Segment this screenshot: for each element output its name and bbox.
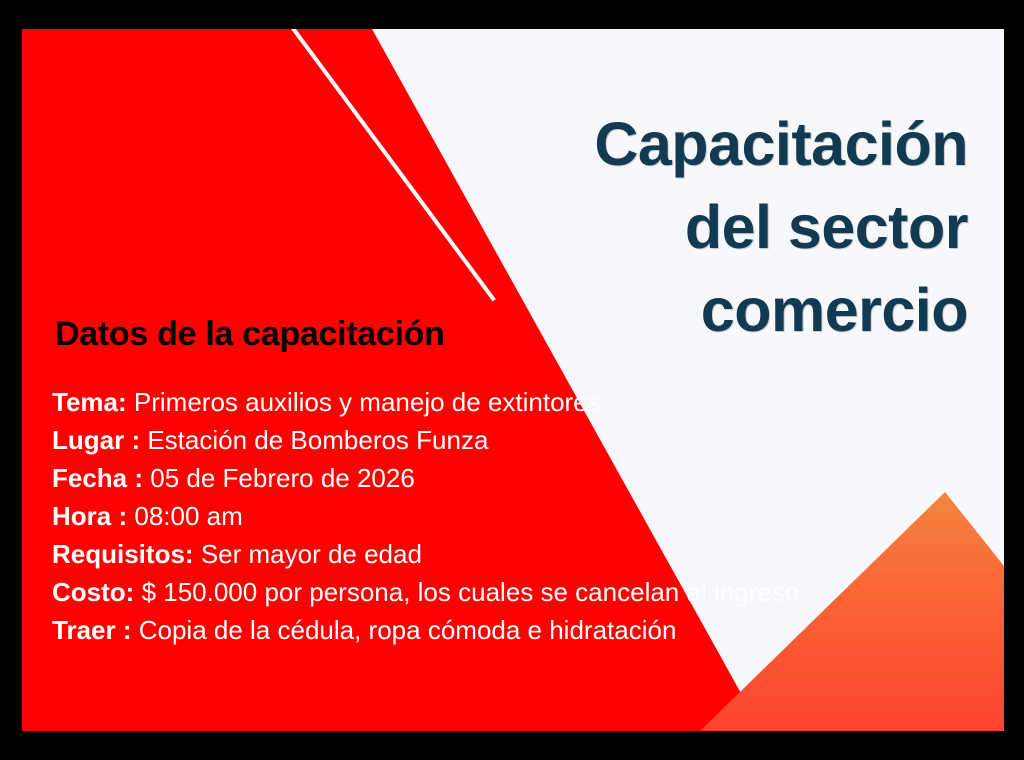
detail-label-fecha: Fecha : [52,463,143,493]
poster-root: Capacitación del sector comercio Datos d… [0,0,1024,760]
detail-row-costo: Costo: $ 150.000 por persona, los cuales… [52,573,832,611]
detail-label-traer: Traer : [52,615,132,645]
detail-row-hora: Hora : 08:00 am [52,497,832,535]
title-line-2: del sector [408,186,968,269]
detail-label-costo: Costo: [52,577,134,607]
poster-canvas: Capacitación del sector comercio Datos d… [22,29,1004,731]
detail-value-requisitos: Ser mayor de edad [201,539,422,569]
page-title: Capacitación del sector comercio [408,103,968,352]
detail-value-fecha: 05 de Febrero de 2026 [150,463,415,493]
detail-value-hora: 08:00 am [134,501,242,531]
detail-row-lugar: Lugar : Estación de Bomberos Funza [52,421,832,459]
details-list: Tema: Primeros auxilios y manejo de exti… [52,383,832,649]
detail-label-lugar: Lugar : [52,425,140,455]
detail-row-requisitos: Requisitos: Ser mayor de edad [52,535,832,573]
detail-value-traer: Copia de la cédula, ropa cómoda e hidrat… [139,615,677,645]
detail-value-costo: $ 150.000 por persona, los cuales se can… [142,577,800,607]
section-heading: Datos de la capacitación [55,315,445,354]
detail-row-fecha: Fecha : 05 de Febrero de 2026 [52,459,832,497]
detail-label-hora: Hora : [52,501,127,531]
detail-row-traer: Traer : Copia de la cédula, ropa cómoda … [52,611,832,649]
detail-row-tema: Tema: Primeros auxilios y manejo de exti… [52,383,832,421]
detail-label-tema: Tema: [52,387,127,417]
detail-value-lugar: Estación de Bomberos Funza [147,425,488,455]
detail-label-requisitos: Requisitos: [52,539,194,569]
title-line-3: comercio [408,269,968,352]
title-line-1: Capacitación [408,103,968,186]
detail-value-tema: Primeros auxilios y manejo de extintores [134,387,601,417]
